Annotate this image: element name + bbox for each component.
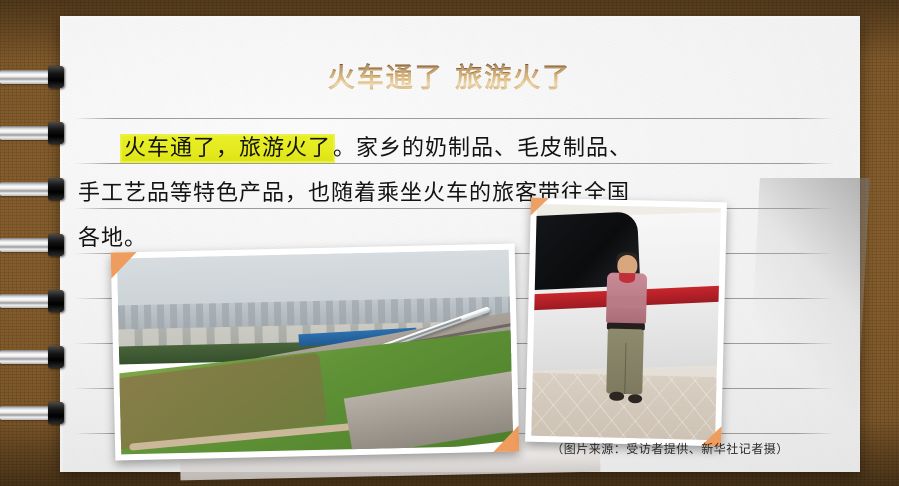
- spiral-ring-icon: [0, 346, 72, 368]
- spiral-ring-icon: [0, 178, 72, 200]
- photo-corner-tab-icon: [111, 252, 138, 279]
- photo-credit-caption: （图片来源：受访者提供、新华社记者摄）: [520, 440, 820, 457]
- spiral-ring-icon: [0, 234, 72, 256]
- page-title: 火车通了 旅游火了: [0, 56, 899, 95]
- photo-corner-tab-icon: [531, 198, 549, 216]
- body-line-1: 火车通了，旅游火了。家乡的奶制品、毛皮制品、: [78, 126, 778, 171]
- highlighted-phrase: 火车通了，旅游火了: [122, 136, 333, 161]
- body-line-3-text: 各地。: [78, 226, 147, 251]
- spiral-ring-icon: [0, 290, 72, 312]
- photo-high-speed-train[interactable]: [111, 243, 520, 460]
- body-line-1-rest: 。家乡的奶制品、毛皮制品、: [333, 136, 632, 161]
- slide-canvas: 火车通了 旅游火了 火车通了，旅游火了。家乡的奶制品、毛皮制品、 手工艺品等特色…: [0, 0, 899, 486]
- spiral-ring-icon: [0, 122, 72, 144]
- photo-man-and-train[interactable]: [525, 198, 727, 447]
- spiral-ring-icon: [0, 402, 72, 424]
- photo-man-image: [531, 204, 721, 440]
- rule-line: [74, 118, 834, 119]
- photo-corner-tab-icon: [493, 425, 520, 452]
- photo-train-image: [117, 250, 513, 455]
